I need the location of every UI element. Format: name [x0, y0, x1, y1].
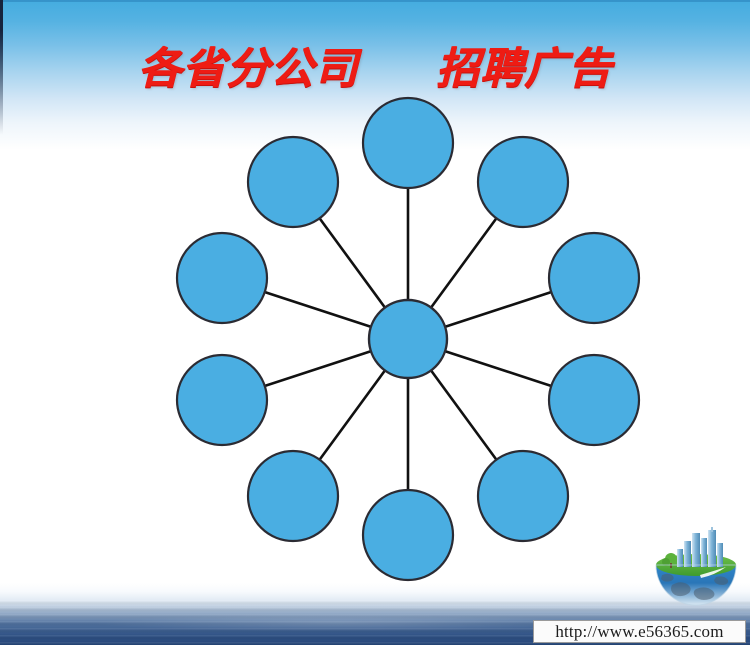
spoke-line — [264, 292, 372, 327]
satellite-node[interactable] — [363, 98, 453, 188]
globe-city-logo — [648, 527, 744, 613]
watermark-url: http://www.e56365.com — [555, 622, 723, 642]
spoke-line — [444, 292, 552, 327]
satellite-node[interactable] — [177, 355, 267, 445]
hub-and-spoke-diagram — [0, 0, 750, 645]
satellite-node[interactable] — [363, 490, 453, 580]
spoke-line — [430, 370, 497, 461]
satellite-node[interactable] — [478, 137, 568, 227]
hub-node[interactable] — [369, 300, 447, 378]
watermark-badge: http://www.e56365.com — [533, 620, 746, 643]
spoke-line — [319, 217, 386, 308]
satellite-node[interactable] — [177, 233, 267, 323]
satellite-node[interactable] — [248, 137, 338, 227]
satellite-node[interactable] — [549, 355, 639, 445]
spoke-line — [430, 217, 497, 308]
slide-canvas: 各省分公司 招聘广告 — [0, 0, 750, 645]
satellite-node[interactable] — [478, 451, 568, 541]
spoke-line — [264, 351, 372, 386]
spoke-line — [319, 370, 386, 461]
spoke-line — [444, 351, 552, 386]
satellite-node[interactable] — [549, 233, 639, 323]
satellite-node[interactable] — [248, 451, 338, 541]
